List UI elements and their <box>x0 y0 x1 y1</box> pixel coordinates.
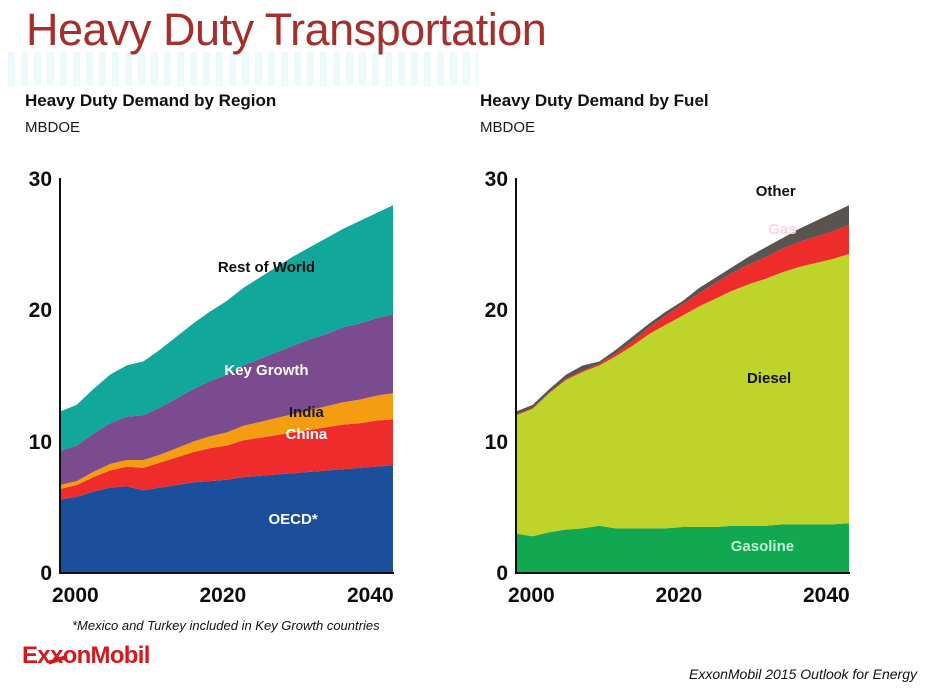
x-tick-label: 2020 <box>656 585 703 606</box>
chart-fuel: 0102030 200020202040 OtherGasDieselGasol… <box>456 165 896 575</box>
logo-text: ExxonMobil <box>22 642 150 669</box>
y-tick-label: 10 <box>456 432 508 453</box>
x-tick-label: 2040 <box>347 585 394 606</box>
area-diesel <box>516 254 849 536</box>
compression-artifact-band <box>8 52 478 86</box>
y-tick-label: 30 <box>456 169 508 190</box>
panel-units-region: MBDOE <box>25 120 276 135</box>
y-tick-label: 30 <box>0 169 52 190</box>
x-tick-label: 2020 <box>200 585 247 606</box>
y-axis-line-fuel <box>515 178 517 574</box>
source-caption: ExxonMobil 2015 Outlook for Energy <box>689 666 917 682</box>
plot-area-region <box>60 179 393 573</box>
footnote: *Mexico and Turkey included in Key Growt… <box>72 618 380 633</box>
plot-area-fuel <box>516 179 849 573</box>
panel-title-region: Heavy Duty Demand by Region <box>25 92 276 109</box>
x-tick-label: 2040 <box>803 585 850 606</box>
exxonmobil-logo: ExxonMobil <box>22 644 150 668</box>
y-tick-label: 10 <box>0 432 52 453</box>
x-tick-label: 2000 <box>508 585 555 606</box>
slide-root: Heavy Duty Transportation Heavy Duty Dem… <box>0 0 929 693</box>
stacked-area-region <box>60 179 393 573</box>
chart-region: 0102030 200020202040 Rest of WorldKey Gr… <box>0 165 440 575</box>
x-axis-line-region <box>59 572 394 574</box>
x-tick-label: 2000 <box>52 585 99 606</box>
x-axis-line-fuel <box>515 572 850 574</box>
page-title: Heavy Duty Transportation <box>26 6 546 53</box>
y-tick-label: 0 <box>456 563 508 584</box>
y-axis-line-region <box>59 178 61 574</box>
y-tick-label: 0 <box>0 563 52 584</box>
area-gasoline <box>516 523 849 573</box>
y-tick-label: 20 <box>456 300 508 321</box>
y-tick-label: 20 <box>0 300 52 321</box>
panel-header-region: Heavy Duty Demand by Region MBDOE <box>25 92 276 135</box>
panel-header-fuel: Heavy Duty Demand by Fuel MBDOE <box>480 92 709 135</box>
stacked-area-fuel <box>516 179 849 573</box>
panel-title-fuel: Heavy Duty Demand by Fuel <box>480 92 709 109</box>
panel-units-fuel: MBDOE <box>480 120 709 135</box>
